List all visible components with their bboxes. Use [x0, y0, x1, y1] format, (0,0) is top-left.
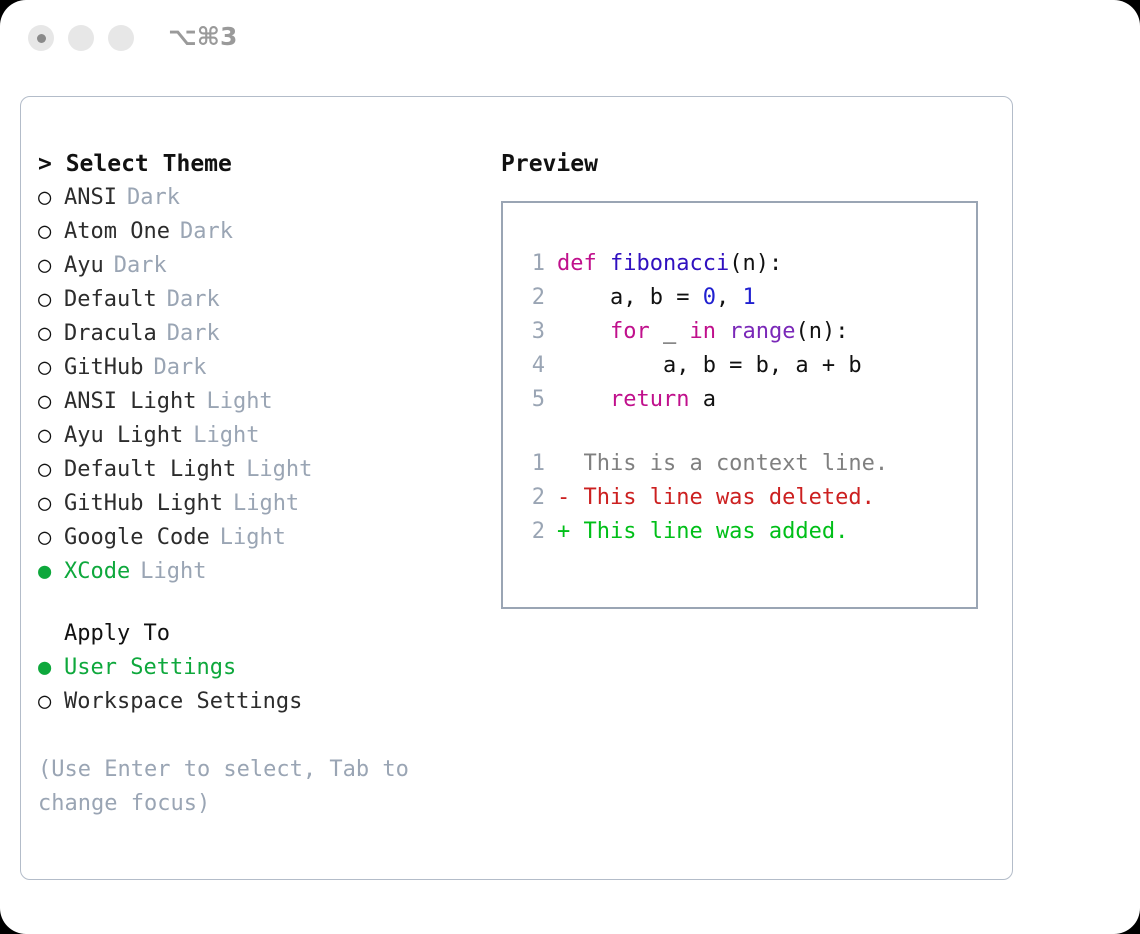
theme-option-variant-tag: Light	[233, 487, 299, 521]
theme-option-default[interactable]: ○DefaultDark	[38, 283, 488, 317]
code-token-plain	[716, 315, 729, 349]
radio-selected-icon: ●	[38, 555, 64, 589]
radio-unselected-icon: ○	[38, 385, 64, 419]
code-line-number: 4	[519, 349, 545, 383]
preview-box: 1def fibonacci(n):2 a, b = 0, 13 for _ i…	[501, 201, 978, 609]
keyboard-hint-text: (Use Enter to select, Tab to change focu…	[38, 753, 458, 821]
diff-line-text: + This line was added.	[557, 515, 848, 549]
code-token-plain: a, b = b, a + b	[557, 349, 862, 383]
code-token-kw: in	[689, 315, 716, 349]
theme-option-variant-tag: Dark	[127, 181, 180, 215]
theme-option-label: ANSI	[64, 181, 117, 215]
app-window: ⌥⌘3 > Select Theme ○ANSIDark○Atom OneDar…	[0, 0, 1140, 934]
radio-unselected-icon: ○	[38, 487, 64, 521]
theme-option-label: Default Light	[64, 453, 236, 487]
theme-option-dracula[interactable]: ○DraculaDark	[38, 317, 488, 351]
code-token-plain: (n):	[729, 247, 782, 281]
theme-option-variant-tag: Light	[220, 521, 286, 555]
code-line: 2 a, b = 0, 1	[503, 281, 976, 315]
theme-selection-column: > Select Theme ○ANSIDark○Atom OneDark○Ay…	[38, 147, 488, 821]
radio-unselected-icon: ○	[38, 215, 64, 249]
theme-picker-window: > Select Theme ○ANSIDark○Atom OneDark○Ay…	[20, 96, 1013, 880]
code-line: 1def fibonacci(n):	[503, 247, 976, 281]
theme-option-label: Ayu Light	[64, 419, 183, 453]
code-token-kw: return	[610, 383, 689, 417]
code-line: 4 a, b = b, a + b	[503, 349, 976, 383]
code-line: 3 for _ in range(n):	[503, 315, 976, 349]
theme-option-ayu[interactable]: ○AyuDark	[38, 249, 488, 283]
theme-option-variant-tag: Dark	[167, 317, 220, 351]
theme-option-label: GitHub Light	[64, 487, 223, 521]
preview-heading: Preview	[501, 147, 991, 181]
code-token-plain: _	[650, 315, 690, 349]
radio-unselected-icon: ○	[38, 351, 64, 385]
theme-option-label: Atom One	[64, 215, 170, 249]
diff-line-del: 2- This line was deleted.	[503, 481, 976, 515]
radio-unselected-icon: ○	[38, 419, 64, 453]
code-line-number: 5	[519, 383, 545, 417]
radio-unselected-icon: ○	[38, 453, 64, 487]
theme-option-label: Default	[64, 283, 157, 317]
radio-unselected-icon: ○	[38, 317, 64, 351]
title-bar: ⌥⌘3	[0, 0, 1140, 78]
window-control-close-icon[interactable]	[28, 25, 54, 51]
code-token-call: range	[729, 315, 795, 349]
theme-option-variant-tag: Light	[193, 419, 259, 453]
diff-line-add: 2+ This line was added.	[503, 515, 976, 549]
radio-unselected-icon: ○	[38, 521, 64, 555]
window-control-minimize-icon[interactable]	[68, 25, 94, 51]
hint-spacer	[38, 719, 488, 753]
radio-unselected-icon: ○	[38, 181, 64, 215]
theme-option-label: Ayu	[64, 249, 104, 283]
theme-option-label: ANSI Light	[64, 385, 196, 419]
diff-line-ctx: 1 This is a context line.	[503, 447, 976, 481]
apply-to-option-label: Workspace Settings	[64, 685, 302, 719]
code-diff-spacer	[503, 417, 976, 447]
theme-option-google-code[interactable]: ○Google CodeLight	[38, 521, 488, 555]
select-theme-heading: > Select Theme	[38, 147, 488, 181]
theme-option-github[interactable]: ○GitHubDark	[38, 351, 488, 385]
theme-option-list[interactable]: ○ANSIDark○Atom OneDark○AyuDark○DefaultDa…	[38, 181, 488, 589]
theme-option-ayu-light[interactable]: ○Ayu LightLight	[38, 419, 488, 453]
apply-to-heading: Apply To	[38, 617, 488, 651]
code-line-number: 3	[519, 315, 545, 349]
window-control-maximize-icon[interactable]	[108, 25, 134, 51]
diff-line-text: This is a context line.	[557, 447, 888, 481]
code-line-number: 2	[519, 281, 545, 315]
code-token-kw: def	[557, 247, 610, 281]
code-token-fn: fibonacci	[610, 247, 729, 281]
theme-option-label: Dracula	[64, 317, 157, 351]
theme-option-variant-tag: Dark	[114, 249, 167, 283]
diff-line-number: 1	[519, 447, 545, 481]
section-spacer	[38, 589, 488, 617]
diff-line-text: - This line was deleted.	[557, 481, 875, 515]
code-token-kw: for	[610, 315, 650, 349]
radio-unselected-icon: ○	[38, 249, 64, 283]
theme-option-default-light[interactable]: ○Default LightLight	[38, 453, 488, 487]
diff-sample: 1 This is a context line.2- This line wa…	[503, 447, 976, 549]
window-controls	[28, 25, 134, 51]
code-token-plain: ,	[716, 281, 743, 315]
apply-to-option-list[interactable]: ●User Settings○Workspace Settings	[38, 651, 488, 719]
theme-option-ansi[interactable]: ○ANSIDark	[38, 181, 488, 215]
apply-to-option-label: User Settings	[64, 651, 236, 685]
apply-to-option-workspace-settings[interactable]: ○Workspace Settings	[38, 685, 488, 719]
code-token-plain: a, b =	[557, 281, 703, 315]
radio-selected-icon: ●	[38, 651, 64, 685]
code-token-plain: (n):	[795, 315, 848, 349]
theme-option-xcode[interactable]: ●XCodeLight	[38, 555, 488, 589]
code-line-number: 1	[519, 247, 545, 281]
theme-option-atom-one[interactable]: ○Atom OneDark	[38, 215, 488, 249]
diff-line-number: 2	[519, 481, 545, 515]
theme-option-label: Google Code	[64, 521, 210, 555]
theme-option-variant-tag: Dark	[180, 215, 233, 249]
code-token-plain: a	[689, 383, 716, 417]
code-token-num: 0	[703, 281, 716, 315]
theme-option-github-light[interactable]: ○GitHub LightLight	[38, 487, 488, 521]
radio-unselected-icon: ○	[38, 685, 64, 719]
diff-line-number: 2	[519, 515, 545, 549]
theme-option-variant-tag: Light	[140, 555, 206, 589]
preview-column: Preview 1def fibonacci(n):2 a, b = 0, 13…	[501, 147, 991, 609]
code-sample: 1def fibonacci(n):2 a, b = 0, 13 for _ i…	[503, 247, 976, 417]
code-token-plain	[557, 383, 610, 417]
apply-to-option-user-settings[interactable]: ●User Settings	[38, 651, 488, 685]
keyboard-shortcut-label: ⌥⌘3	[168, 22, 237, 51]
code-token-plain	[557, 315, 610, 349]
theme-option-ansi-light[interactable]: ○ANSI LightLight	[38, 385, 488, 419]
theme-option-label: GitHub	[64, 351, 143, 385]
theme-option-variant-tag: Dark	[153, 351, 206, 385]
theme-option-variant-tag: Dark	[167, 283, 220, 317]
theme-option-label: XCode	[64, 555, 130, 589]
theme-option-variant-tag: Light	[206, 385, 272, 419]
radio-unselected-icon: ○	[38, 283, 64, 317]
code-token-num: 1	[742, 281, 755, 315]
code-line: 5 return a	[503, 383, 976, 417]
theme-option-variant-tag: Light	[246, 453, 312, 487]
